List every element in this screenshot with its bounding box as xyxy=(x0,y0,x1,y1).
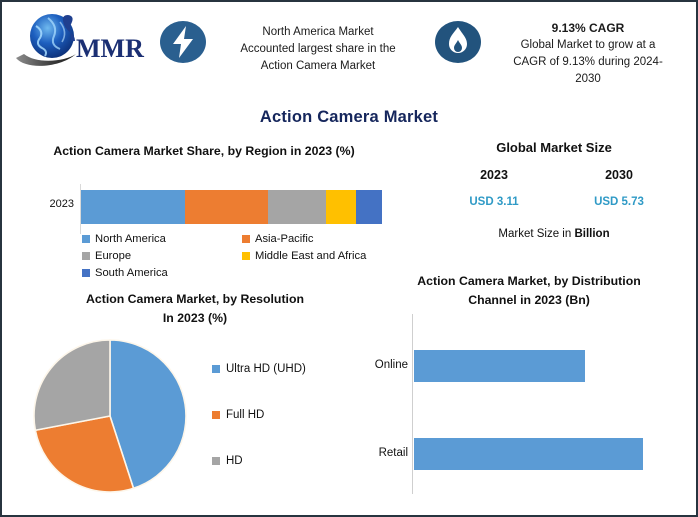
global-market-size-title: Global Market Size xyxy=(414,140,694,155)
region-segment-europe xyxy=(268,190,327,224)
pie-legend-item: Full HD xyxy=(212,392,372,438)
pie-title-line-1: Action Camera Market, by Resolution xyxy=(30,290,360,309)
market-size-footnote: Market Size in Billion xyxy=(414,228,694,240)
region-segment-asia-pacific xyxy=(185,190,268,224)
legend-swatch-icon xyxy=(212,457,220,465)
pie-legend-item: HD xyxy=(212,438,372,484)
region-legend-label: Europe xyxy=(95,250,131,262)
pie-chart-title: Action Camera Market, by Resolution In 2… xyxy=(30,290,360,328)
flame-icon xyxy=(434,20,482,64)
region-legend-item: Europe xyxy=(82,247,242,264)
north-america-highlight: North America Market Accounted largest s… xyxy=(218,24,418,75)
mmr-logo: MMR xyxy=(14,10,146,72)
legend-swatch-icon xyxy=(82,252,90,260)
highlight-line-2: Accounted largest share in the xyxy=(218,41,418,58)
distribution-bar-online xyxy=(414,350,585,382)
distribution-category-online: Online xyxy=(358,359,408,371)
distribution-title-line-2: Channel in 2023 (Bn) xyxy=(374,291,684,310)
region-category-label: 2023 xyxy=(18,198,74,210)
logo-text: MMR xyxy=(76,34,144,63)
region-legend-label: North America xyxy=(95,233,166,245)
legend-swatch-icon xyxy=(212,411,220,419)
region-legend-label: Asia-Pacific xyxy=(255,233,313,245)
global-market-size-panel: Global Market Size 2023 2030 USD 3.11 US… xyxy=(414,140,694,270)
lightning-bolt-icon xyxy=(159,20,207,64)
resolution-pie-chart: Action Camera Market, by Resolution In 2… xyxy=(10,290,400,512)
header: MMR North America Market Accounted large… xyxy=(2,2,696,90)
legend-swatch-icon xyxy=(212,365,220,373)
market-size-year-2023: 2023 xyxy=(449,168,539,182)
region-segment-north-america xyxy=(81,190,185,224)
pie-chart-legend: Ultra HD (UHD)Full HDHD xyxy=(212,346,372,484)
region-legend-item: Middle East and Africa xyxy=(242,247,402,264)
region-legend-item: North America xyxy=(82,230,242,247)
region-chart-legend: North AmericaAsia-PacificEuropeMiddle Ea… xyxy=(82,230,402,281)
pie-legend-item: Ultra HD (UHD) xyxy=(212,346,372,392)
highlight-line-1: North America Market xyxy=(218,24,418,41)
distribution-title-line-1: Action Camera Market, by Distribution xyxy=(374,272,684,291)
legend-swatch-icon xyxy=(82,235,90,243)
region-legend-label: Middle East and Africa xyxy=(255,250,366,262)
distribution-chart-axis xyxy=(412,314,413,494)
region-chart-title: Action Camera Market Share, by Region in… xyxy=(20,142,388,161)
cagr-headline: 9.13% CAGR xyxy=(490,20,686,37)
distribution-channel-chart: Action Camera Market, by Distribution Ch… xyxy=(362,272,696,512)
highlight-line-3: Action Camera Market xyxy=(218,58,418,75)
cagr-highlight: 9.13% CAGR Global Market to grow at a CA… xyxy=(490,20,686,88)
distribution-bar-retail xyxy=(414,438,643,470)
pie-title-line-2: In 2023 (%) xyxy=(30,309,360,328)
pie-graphic xyxy=(30,338,190,498)
cagr-line-3: 2030 xyxy=(490,71,686,88)
distribution-category-retail: Retail xyxy=(358,447,408,459)
region-legend-item: South America xyxy=(82,264,242,281)
pie-legend-label: Ultra HD (UHD) xyxy=(226,363,306,375)
pie-slice-hd xyxy=(34,340,110,430)
pie-legend-label: Full HD xyxy=(226,409,264,421)
infographic-frame: MMR North America Market Accounted large… xyxy=(0,0,698,517)
market-size-value-2023: USD 3.11 xyxy=(449,196,539,208)
distribution-chart-title: Action Camera Market, by Distribution Ch… xyxy=(374,272,684,310)
market-size-value-2030: USD 5.73 xyxy=(574,196,664,208)
region-share-chart: Action Camera Market Share, by Region in… xyxy=(10,142,410,292)
cagr-line-1: Global Market to grow at a xyxy=(490,37,686,54)
region-stacked-bar xyxy=(81,190,382,224)
legend-swatch-icon xyxy=(242,252,250,260)
region-legend-label: South America xyxy=(95,267,168,279)
region-segment-middle-east-and-africa xyxy=(326,190,356,224)
footnote-prefix: Market Size in xyxy=(498,228,574,240)
region-legend-item: Asia-Pacific xyxy=(242,230,402,247)
pie-legend-label: HD xyxy=(226,455,243,467)
cagr-line-2: CAGR of 9.13% during 2024- xyxy=(490,54,686,71)
region-segment-south-america xyxy=(356,190,382,224)
legend-swatch-icon xyxy=(242,235,250,243)
page-title: Action Camera Market xyxy=(2,108,696,127)
market-size-year-2030: 2030 xyxy=(574,168,664,182)
footnote-unit: Billion xyxy=(574,228,609,240)
legend-swatch-icon xyxy=(82,269,90,277)
